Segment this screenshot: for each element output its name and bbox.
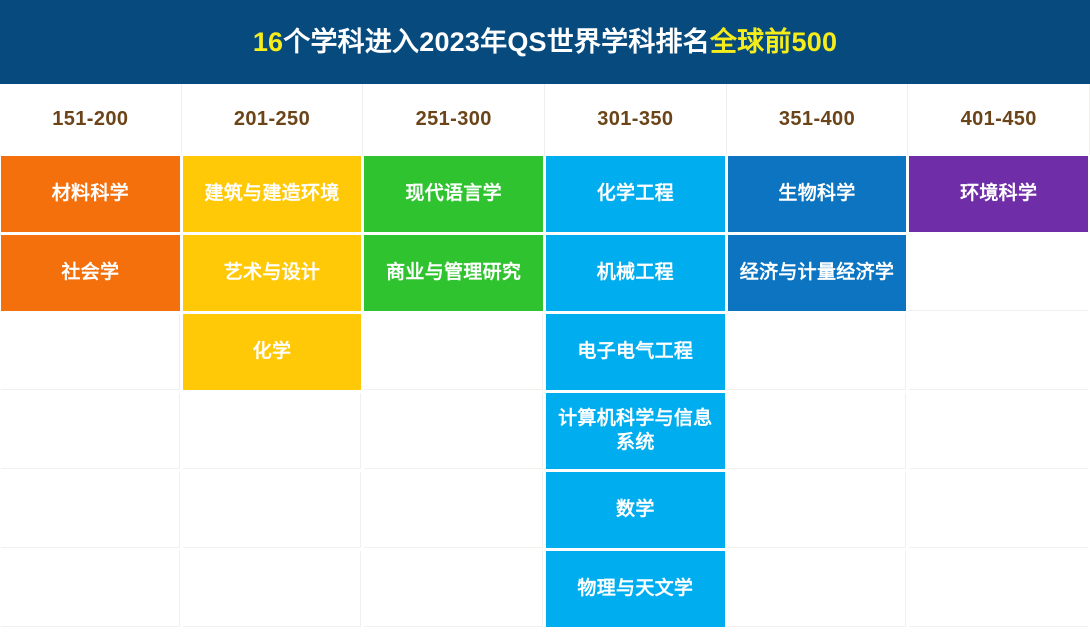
table-cell-empty	[182, 550, 364, 629]
table-cell-empty	[908, 471, 1090, 550]
column-header-251-300: 251-300	[363, 84, 545, 155]
ranking-table: 151-200201-250251-300301-350351-400401-4…	[0, 84, 1090, 642]
empty-cell	[364, 393, 543, 469]
table-cell-filled[interactable]: 环境科学	[908, 155, 1090, 234]
table-cell-empty	[908, 234, 1090, 313]
subject-cell[interactable]: 环境科学	[909, 156, 1088, 232]
table-cell-filled[interactable]: 现代语言学	[363, 155, 545, 234]
subject-cell[interactable]: 社会学	[1, 235, 180, 311]
table-cell-empty	[182, 392, 364, 471]
table-cell-empty	[363, 550, 545, 629]
empty-cell	[909, 235, 1088, 311]
empty-cell	[1, 393, 180, 469]
subject-cell[interactable]: 经济与计量经济学	[728, 235, 907, 311]
column-header-301-350: 301-350	[545, 84, 727, 155]
table-cell-empty	[363, 471, 545, 550]
subject-cell[interactable]: 数学	[546, 472, 725, 548]
column-header-351-400: 351-400	[727, 84, 909, 155]
empty-cell	[183, 472, 362, 548]
table-cell-filled[interactable]: 电子电气工程	[545, 313, 727, 392]
title-segment-count: 16	[253, 27, 283, 57]
qs-subject-ranking-board: 16个学科进入2023年QS世界学科排名全球前500 151-200201-25…	[0, 0, 1090, 642]
table-cell-empty	[908, 550, 1090, 629]
table-cell-filled[interactable]: 物理与天文学	[545, 550, 727, 629]
column-header-151-200: 151-200	[0, 84, 182, 155]
empty-cell	[909, 393, 1088, 469]
table-cell-filled[interactable]: 社会学	[0, 234, 182, 313]
subject-cell[interactable]: 商业与管理研究	[364, 235, 543, 311]
empty-cell	[909, 314, 1088, 390]
empty-cell	[728, 393, 907, 469]
table-cell-empty	[727, 550, 909, 629]
table-cell-filled[interactable]: 生物科学	[727, 155, 909, 234]
table-cell-empty	[0, 392, 182, 471]
table-cell-empty	[182, 471, 364, 550]
title-segment-main: 个学科进入2023年QS世界学科排名	[283, 27, 710, 57]
empty-cell	[909, 472, 1088, 548]
column-header-201-250: 201-250	[182, 84, 364, 155]
subject-cell[interactable]: 建筑与建造环境	[183, 156, 362, 232]
empty-cell	[183, 551, 362, 627]
column-header-label: 401-450	[961, 108, 1037, 131]
subject-cell[interactable]: 计算机科学与信息系统	[546, 393, 725, 469]
table-cell-filled[interactable]: 化学	[182, 313, 364, 392]
subject-cell[interactable]: 电子电气工程	[546, 314, 725, 390]
empty-cell	[364, 314, 543, 390]
empty-cell	[364, 472, 543, 548]
subject-cell[interactable]: 艺术与设计	[183, 235, 362, 311]
table-cell-empty	[0, 550, 182, 629]
table-cell-empty	[0, 313, 182, 392]
table-cell-filled[interactable]: 计算机科学与信息系统	[545, 392, 727, 471]
column-header-label: 351-400	[779, 108, 855, 131]
empty-cell	[728, 314, 907, 390]
column-header-label: 301-350	[597, 108, 673, 131]
table-cell-empty	[727, 471, 909, 550]
table-cell-filled[interactable]: 商业与管理研究	[363, 234, 545, 313]
empty-cell	[1, 551, 180, 627]
subject-cell[interactable]: 材料科学	[1, 156, 180, 232]
table-cell-empty	[727, 313, 909, 392]
table-cell-filled[interactable]: 艺术与设计	[182, 234, 364, 313]
subject-cell[interactable]: 化学	[183, 314, 362, 390]
subject-cell[interactable]: 化学工程	[546, 156, 725, 232]
column-header-label: 201-250	[234, 108, 310, 131]
table-cell-filled[interactable]: 机械工程	[545, 234, 727, 313]
empty-cell	[183, 393, 362, 469]
table-cell-empty	[908, 313, 1090, 392]
empty-cell	[1, 472, 180, 548]
table-cell-empty	[0, 471, 182, 550]
subject-cell[interactable]: 现代语言学	[364, 156, 543, 232]
table-cell-empty	[908, 392, 1090, 471]
table-cell-filled[interactable]: 数学	[545, 471, 727, 550]
title-bar: 16个学科进入2023年QS世界学科排名全球前500	[0, 0, 1090, 84]
table-cell-filled[interactable]: 建筑与建造环境	[182, 155, 364, 234]
empty-cell	[728, 472, 907, 548]
empty-cell	[364, 551, 543, 627]
empty-cell	[909, 551, 1088, 627]
table-cell-empty	[363, 313, 545, 392]
column-header-label: 251-300	[416, 108, 492, 131]
table-cell-empty	[727, 392, 909, 471]
column-header-label: 151-200	[52, 108, 128, 131]
column-header-401-450: 401-450	[908, 84, 1090, 155]
subject-cell[interactable]: 生物科学	[728, 156, 907, 232]
empty-cell	[728, 551, 907, 627]
table-cell-filled[interactable]: 材料科学	[0, 155, 182, 234]
title-segment-highlight: 全球前500	[710, 27, 837, 57]
subject-cell[interactable]: 物理与天文学	[546, 551, 725, 627]
subject-cell[interactable]: 机械工程	[546, 235, 725, 311]
empty-cell	[1, 314, 180, 390]
table-cell-filled[interactable]: 经济与计量经济学	[727, 234, 909, 313]
table-cell-filled[interactable]: 化学工程	[545, 155, 727, 234]
page-title: 16个学科进入2023年QS世界学科排名全球前500	[253, 29, 837, 56]
table-cell-empty	[363, 392, 545, 471]
